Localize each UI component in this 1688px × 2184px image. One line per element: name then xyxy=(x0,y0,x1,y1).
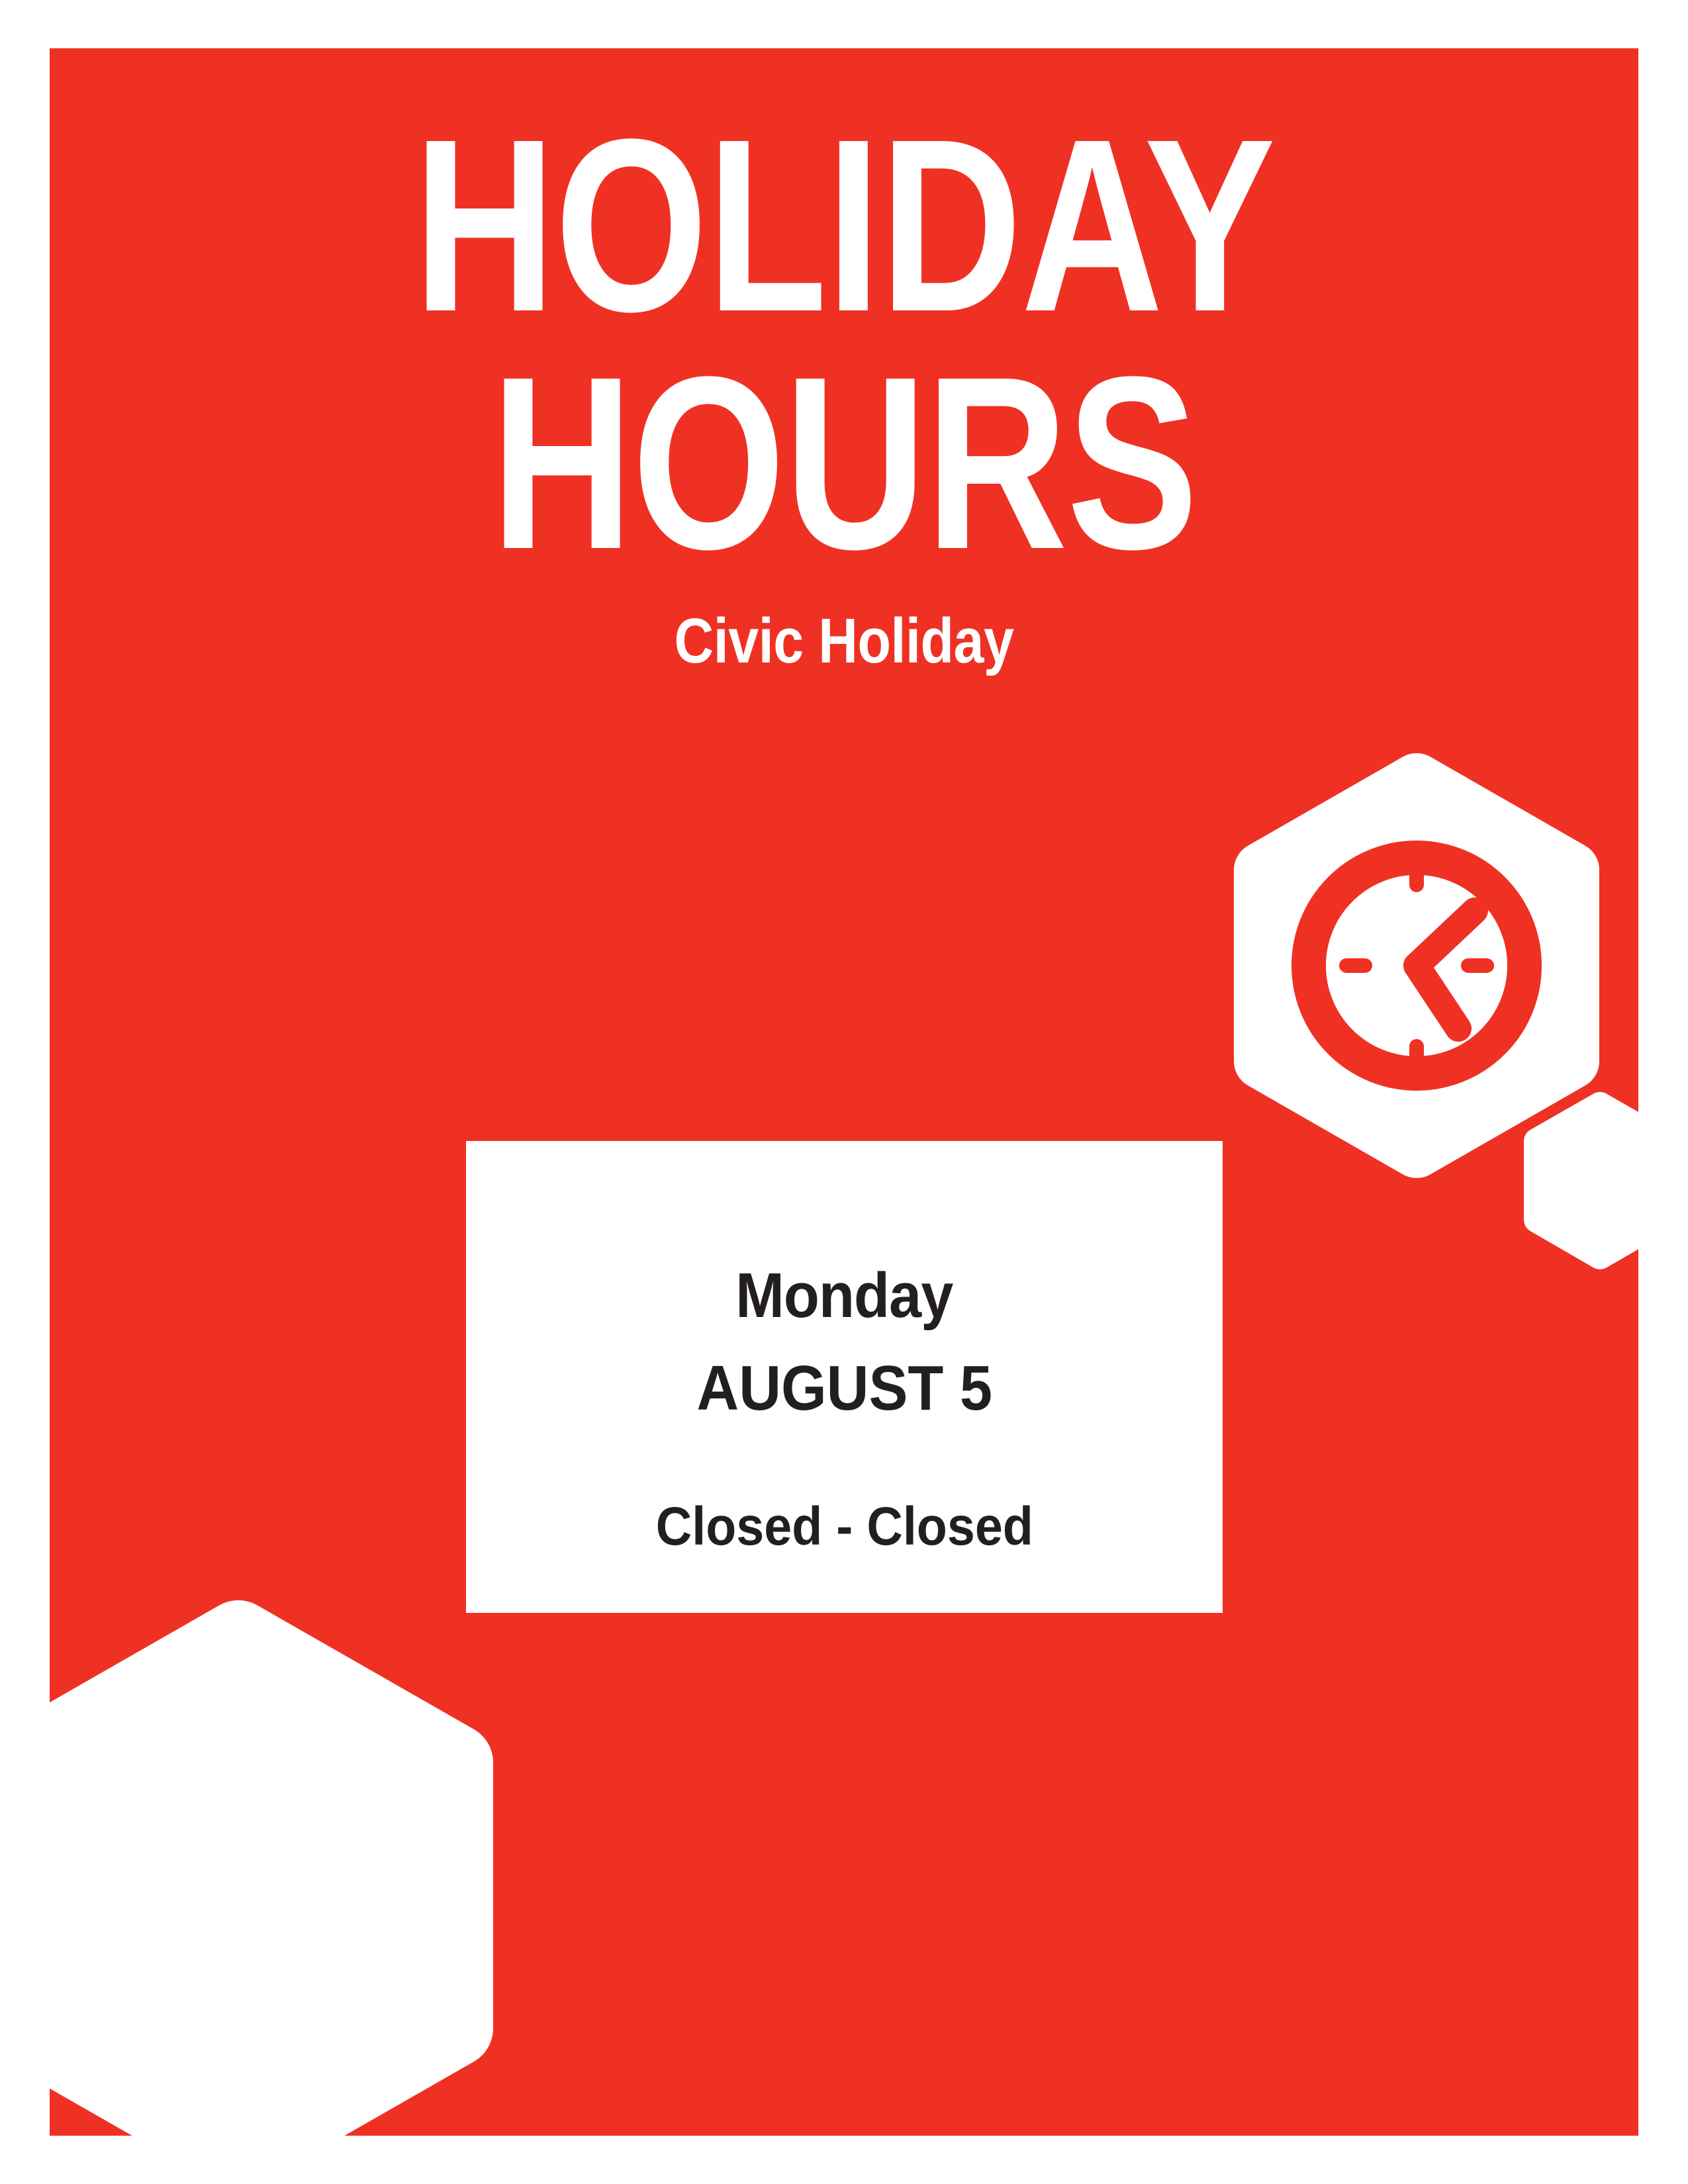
schedule-card: Monday AUGUST 5 Closed - Closed xyxy=(466,1141,1223,1613)
poster-background-panel: HOLIDAY HOURS Civic Holiday xyxy=(50,48,1638,2136)
poster-header: HOLIDAY HOURS Civic Holiday xyxy=(50,48,1638,673)
poster-subtitle: Civic Holiday xyxy=(161,582,1527,673)
schedule-date-label: AUGUST 5 xyxy=(696,1328,992,1420)
schedule-hours-label: Closed - Closed xyxy=(655,1420,1033,1554)
hexagon-accent-icon-small xyxy=(1521,1089,1638,1273)
page-title-line-1: HOLIDAY xyxy=(209,48,1479,344)
page-title-line-2: HOURS xyxy=(209,344,1479,582)
schedule-day-label: Monday xyxy=(735,1141,953,1328)
holiday-hours-poster: HOLIDAY HOURS Civic Holiday xyxy=(0,0,1688,2184)
hexagon-accent-icon-large xyxy=(50,1594,500,2136)
